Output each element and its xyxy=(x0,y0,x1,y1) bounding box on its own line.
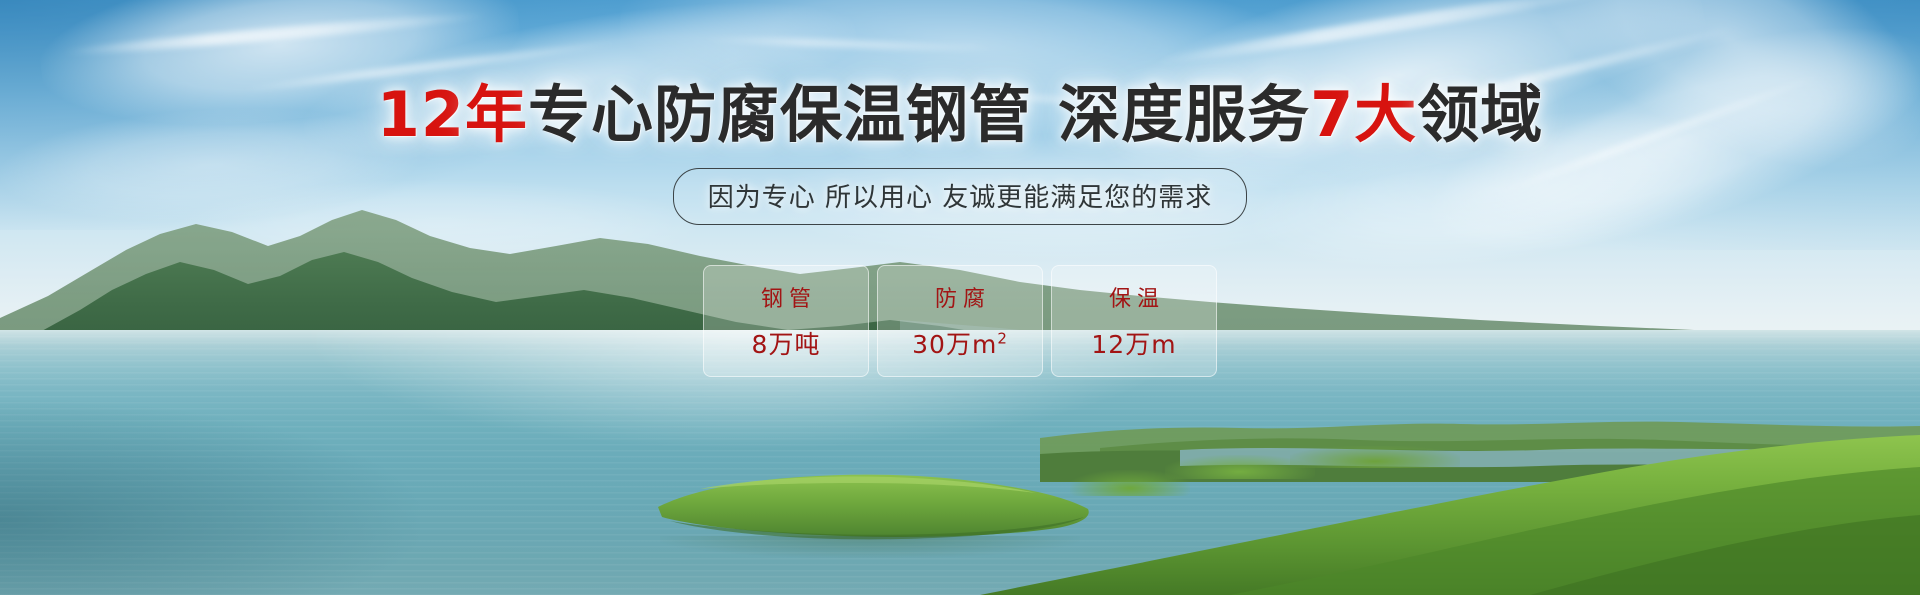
stat-card-value-text: 12万m xyxy=(1091,330,1176,359)
stat-card-value-text: 30万m xyxy=(912,330,997,359)
stat-card-value: 8万吨 xyxy=(752,325,821,361)
subtitle-pill: 因为专心 所以用心 友诚更能满足您的需求 xyxy=(673,168,1248,225)
headline-part-three: 领域 xyxy=(1417,78,1543,151)
stat-card-steel-pipe[interactable]: 钢管 8万吨 xyxy=(703,265,869,377)
stat-card-label: 钢管 xyxy=(755,281,817,313)
headline-years-number: 12 xyxy=(377,78,465,151)
hero-banner: 12年专心防腐保温钢管深度服务7大领域 因为专心 所以用心 友诚更能满足您的需求… xyxy=(0,0,1920,595)
stat-card-insulation[interactable]: 保温 12万m xyxy=(1051,265,1217,377)
stat-cards: 钢管 8万吨 防腐 30万m2 保温 12万m xyxy=(0,265,1920,377)
stat-card-value-text: 8万吨 xyxy=(752,330,821,359)
stat-card-label: 防腐 xyxy=(929,281,991,313)
headline-fields-suffix: 大 xyxy=(1354,78,1417,151)
headline-years-unit: 年 xyxy=(465,78,528,151)
stat-card-value: 30万m2 xyxy=(912,325,1008,361)
stat-card-value: 12万m xyxy=(1091,325,1176,361)
stat-card-label: 保温 xyxy=(1103,281,1165,313)
headline-fields-number: 7 xyxy=(1310,78,1354,151)
stat-card-value-superscript: 2 xyxy=(997,330,1008,348)
stat-card-anticorrosion[interactable]: 防腐 30万m2 xyxy=(877,265,1043,377)
subtitle-container: 因为专心 所以用心 友诚更能满足您的需求 xyxy=(0,168,1920,225)
headline-part-two: 深度服务 xyxy=(1058,78,1310,151)
grass-field-right xyxy=(920,395,1920,595)
water-shadow-left xyxy=(0,400,420,595)
page-title: 12年专心防腐保温钢管深度服务7大领域 xyxy=(0,84,1920,146)
headline-part-one: 专心防腐保温钢管 xyxy=(528,78,1032,151)
